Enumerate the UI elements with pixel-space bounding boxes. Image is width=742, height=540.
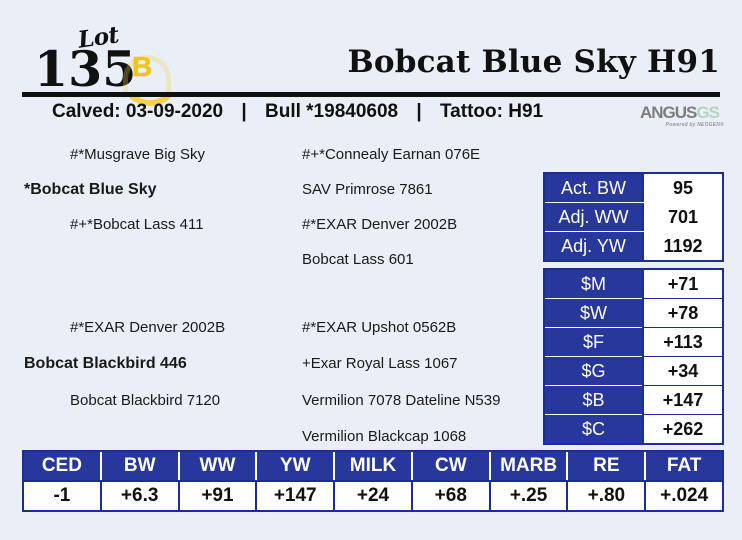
epd-header-cell: MARB bbox=[489, 452, 567, 480]
sale-catalog-lot-page: Lot 135 B Bobcat Blue Sky H91 Calved: 03… bbox=[0, 0, 742, 540]
row-value: 95 bbox=[642, 174, 722, 202]
epd-header-row: CED BW WW YW MILK CW MARB RE FAT bbox=[24, 452, 722, 480]
epd-value-cell: +147 bbox=[255, 482, 333, 510]
epd-value-cell: +.024 bbox=[644, 482, 722, 510]
dam-great-4: Vermilion Blackcap 1068 bbox=[302, 428, 466, 445]
badge-smile-arc bbox=[120, 66, 180, 106]
sire-great-3: #*EXAR Denver 2002B bbox=[302, 216, 457, 233]
page-title: Bobcat Blue Sky H91 bbox=[347, 44, 720, 80]
epd-table: CED BW WW YW MILK CW MARB RE FAT -1 +6.3… bbox=[22, 450, 724, 512]
separator-1: | bbox=[228, 101, 259, 123]
epd-value-cell: +6.3 bbox=[100, 482, 178, 510]
table-row: $W +78 bbox=[545, 298, 722, 327]
epd-value-cell: +.25 bbox=[489, 482, 567, 510]
sire-great-1: #+*Connealy Earnan 076E bbox=[302, 146, 480, 163]
row-label: Adj. YW bbox=[545, 232, 642, 260]
row-value: +147 bbox=[642, 385, 722, 414]
tattoo: Tattoo: H91 bbox=[440, 101, 543, 122]
epd-header-cell: WW bbox=[178, 452, 256, 480]
row-label: $M bbox=[545, 270, 642, 298]
lot-block: Lot 135 B bbox=[34, 24, 204, 96]
row-value: +71 bbox=[642, 270, 722, 298]
row-value: 1192 bbox=[642, 232, 722, 260]
epd-header-cell: MILK bbox=[333, 452, 411, 480]
row-value: +34 bbox=[642, 356, 722, 385]
row-label: Act. BW bbox=[545, 174, 642, 202]
separator-2: | bbox=[403, 101, 434, 123]
table-row: $F +113 bbox=[545, 327, 722, 356]
header-divider bbox=[22, 92, 720, 97]
table-row: Adj. WW 701 bbox=[545, 202, 722, 231]
epd-value-cell: +68 bbox=[411, 482, 489, 510]
logo-angus-text: ANGUS bbox=[640, 103, 696, 122]
table-row: $B +147 bbox=[545, 385, 722, 414]
epd-header-cell: BW bbox=[100, 452, 178, 480]
sire-name: *Bobcat Blue Sky bbox=[24, 181, 156, 199]
epd-value-cell: -1 bbox=[24, 482, 100, 510]
row-label: $C bbox=[545, 415, 642, 443]
dollar-index-table: $M +71 $W +78 $F +113 $G +34 $B +147 $C … bbox=[543, 268, 724, 445]
epd-header-cell: RE bbox=[566, 452, 644, 480]
table-row: $M +71 bbox=[545, 270, 722, 298]
epd-value-cell: +24 bbox=[333, 482, 411, 510]
registration-number: Bull *19840608 bbox=[265, 101, 398, 122]
logo-tagline: Powered by NEOGEN® bbox=[640, 122, 724, 128]
row-value: +78 bbox=[642, 298, 722, 327]
row-value: +113 bbox=[642, 327, 722, 356]
identification-line: Calved: 03-09-2020 | Bull *19840608 | Ta… bbox=[52, 101, 543, 123]
epd-header-cell: FAT bbox=[644, 452, 722, 480]
row-label: $B bbox=[545, 386, 642, 414]
epd-value-cell: +91 bbox=[178, 482, 256, 510]
sire-great-4: Bobcat Lass 601 bbox=[302, 251, 414, 268]
measurements-panel: Act. BW 95 Adj. WW 701 Adj. YW 1192 $M +… bbox=[543, 172, 724, 448]
row-label: $G bbox=[545, 357, 642, 385]
logo-wordmark: ANGUSGS bbox=[640, 104, 724, 121]
logo-gs-text: GS bbox=[696, 103, 719, 122]
sire-grand-dam: #+*Bobcat Lass 411 bbox=[70, 216, 204, 233]
row-value: 701 bbox=[642, 203, 722, 231]
epd-value-cell: +.80 bbox=[566, 482, 644, 510]
dam-name: Bobcat Blackbird 446 bbox=[24, 355, 187, 373]
table-row: Act. BW 95 bbox=[545, 174, 722, 202]
dam-grand-sire: #*EXAR Denver 2002B bbox=[70, 319, 225, 336]
epd-header-cell: YW bbox=[255, 452, 333, 480]
b-badge-icon: B bbox=[120, 53, 168, 95]
calved-date: Calved: 03-09-2020 bbox=[52, 101, 223, 122]
table-row: Adj. YW 1192 bbox=[545, 231, 722, 260]
dam-great-1: #*EXAR Upshot 0562B bbox=[302, 319, 456, 336]
dam-great-2: +Exar Royal Lass 1067 bbox=[302, 355, 458, 372]
row-label: Adj. WW bbox=[545, 203, 642, 231]
dam-grand-dam: Bobcat Blackbird 7120 bbox=[70, 392, 220, 409]
row-label: $F bbox=[545, 328, 642, 356]
actual-measurements-table: Act. BW 95 Adj. WW 701 Adj. YW 1192 bbox=[543, 172, 724, 262]
epd-header-cell: CW bbox=[411, 452, 489, 480]
row-label: $W bbox=[545, 299, 642, 327]
table-row: $C +262 bbox=[545, 414, 722, 443]
table-row: $G +34 bbox=[545, 356, 722, 385]
angus-gs-logo: ANGUSGS Powered by NEOGEN® bbox=[640, 104, 724, 134]
epd-value-row: -1 +6.3 +91 +147 +24 +68 +.25 +.80 +.024 bbox=[24, 480, 722, 510]
sire-grand-sire: #*Musgrave Big Sky bbox=[70, 146, 205, 163]
dam-great-3: Vermilion 7078 Dateline N539 bbox=[302, 392, 500, 409]
sire-great-2: SAV Primrose 7861 bbox=[302, 181, 433, 198]
row-value: +262 bbox=[642, 414, 722, 443]
epd-header-cell: CED bbox=[24, 452, 100, 480]
